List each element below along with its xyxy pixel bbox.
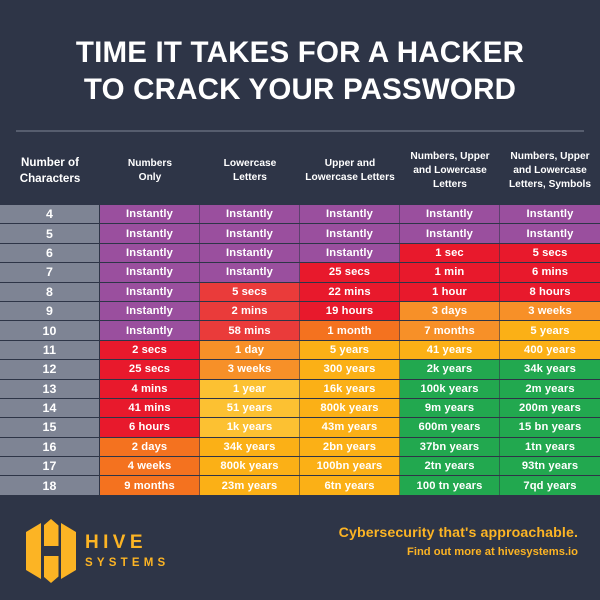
crack-time-cell: 41 years (400, 341, 500, 359)
crack-time-cell: 100bn years (300, 457, 400, 475)
crack-time-cell: Instantly (200, 224, 300, 242)
table-row: 112 secs1 day5 years41 years400 years (0, 341, 600, 360)
logo-text-systems: SYSTEMS (85, 556, 169, 571)
table-row: 134 mins1 year16k years100k years2m year… (0, 380, 600, 399)
crack-time-cell: 2m years (500, 380, 600, 398)
crack-time-cell: 2 days (100, 438, 200, 456)
crack-time-cell: 300 years (300, 360, 400, 378)
crack-time-cell: Instantly (200, 205, 300, 223)
column-header-line: Characters (20, 171, 81, 187)
character-count-cell: 7 (0, 263, 100, 281)
header-divider (16, 130, 584, 132)
crack-time-cell: 800k years (300, 399, 400, 417)
table-row: 156 hours1k years43m years600m years15 b… (0, 418, 600, 437)
crack-time-cell: Instantly (100, 244, 200, 262)
column-header-line: and Lowercase (509, 164, 591, 178)
crack-time-cell: 7qd years (500, 476, 600, 494)
character-count-cell: 8 (0, 283, 100, 301)
crack-time-cell: 3 days (400, 302, 500, 320)
crack-time-cell: Instantly (200, 263, 300, 281)
title-line-2: TO CRACK YOUR PASSWORD (0, 71, 600, 108)
crack-time-cell: 25 secs (100, 360, 200, 378)
column-header-line: Letters (224, 171, 277, 185)
crack-time-cell: 400 years (500, 341, 600, 359)
crack-time-cell: 1 hour (400, 283, 500, 301)
tagline-primary: Cybersecurity that's approachable. (339, 525, 578, 541)
character-count-cell: 18 (0, 476, 100, 494)
crack-time-cell: 16k years (300, 380, 400, 398)
crack-time-cell: 1 sec (400, 244, 500, 262)
table-row: 8Instantly5 secs22 mins1 hour8 hours (0, 283, 600, 302)
column-header-3: Upper andLowercase Letters (300, 138, 400, 204)
crack-time-cell: 2 secs (100, 341, 200, 359)
crack-time-cell: 43m years (300, 418, 400, 436)
crack-time-cell: Instantly (100, 205, 200, 223)
crack-time-cell: 1 min (400, 263, 500, 281)
crack-time-cell: 2tn years (400, 457, 500, 475)
crack-time-cell: Instantly (300, 224, 400, 242)
column-header-line: Upper and (305, 157, 394, 171)
table-row: 189 months23m years6tn years100 tn years… (0, 476, 600, 495)
crack-time-cell: 5 years (300, 341, 400, 359)
crack-time-cell: 600m years (400, 418, 500, 436)
table-row: 6InstantlyInstantlyInstantly1 sec5 secs (0, 244, 600, 263)
crack-time-cell: 9m years (400, 399, 500, 417)
table-header-row: Number ofCharactersNumbersOnlyLowercaseL… (0, 138, 600, 204)
crack-time-cell: 200m years (500, 399, 600, 417)
table-row: 162 days34k years2bn years37bn years1tn … (0, 438, 600, 457)
table-row: 7InstantlyInstantly25 secs1 min6 mins (0, 263, 600, 282)
character-count-cell: 6 (0, 244, 100, 262)
crack-time-cell: 9 months (100, 476, 200, 494)
crack-time-cell: 3 weeks (200, 360, 300, 378)
column-header-line: Lowercase Letters (305, 171, 394, 185)
crack-time-cell: Instantly (500, 205, 600, 223)
crack-time-cell: Instantly (300, 244, 400, 262)
crack-time-cell: 4 mins (100, 380, 200, 398)
crack-time-cell: Instantly (100, 283, 200, 301)
column-header-line: Letters, Symbols (509, 178, 591, 192)
hive-h-logo-icon (26, 519, 76, 583)
infographic-page: HIVE SYSTEMS TIME IT TAKES FOR A HACKER … (0, 0, 600, 600)
column-header-line: Numbers, Upper (410, 150, 489, 164)
crack-time-cell: 1tn years (500, 438, 600, 456)
column-header-line: Number of (20, 155, 81, 171)
crack-time-cell: Instantly (100, 321, 200, 339)
crack-time-cell: 34k years (500, 360, 600, 378)
character-count-cell: 5 (0, 224, 100, 242)
crack-time-cell: 2k years (400, 360, 500, 378)
character-count-cell: 9 (0, 302, 100, 320)
character-count-cell: 15 (0, 418, 100, 436)
crack-time-cell: 93tn years (500, 457, 600, 475)
character-count-cell: 12 (0, 360, 100, 378)
crack-time-cell: 41 mins (100, 399, 200, 417)
table-row: 5InstantlyInstantlyInstantlyInstantlyIns… (0, 224, 600, 243)
table-row: 1441 mins51 years800k years9m years200m … (0, 399, 600, 418)
table-row: 10Instantly58 mins1 month7 months5 years (0, 321, 600, 340)
crack-time-cell: 23m years (200, 476, 300, 494)
hive-systems-logo[interactable]: HIVE SYSTEMS (26, 519, 169, 583)
crack-time-cell: 8 hours (500, 283, 600, 301)
crack-time-cell: 2 mins (200, 302, 300, 320)
crack-time-cell: 19 hours (300, 302, 400, 320)
table-row: 1225 secs3 weeks300 years2k years34k yea… (0, 360, 600, 379)
crack-time-cell: 6 hours (100, 418, 200, 436)
column-header-line: Numbers (128, 157, 172, 171)
crack-time-cell: Instantly (400, 205, 500, 223)
column-header-line: Only (128, 171, 172, 185)
column-header-4: Numbers, Upperand LowercaseLetters (400, 138, 500, 204)
crack-time-cell: 4 weeks (100, 457, 200, 475)
crack-time-cell: 5 secs (200, 283, 300, 301)
crack-time-cell: 6 mins (500, 263, 600, 281)
crack-time-cell: 51 years (200, 399, 300, 417)
column-header-0: Number ofCharacters (0, 138, 100, 204)
column-header-1: NumbersOnly (100, 138, 200, 204)
character-count-cell: 14 (0, 399, 100, 417)
crack-time-cell: 3 weeks (500, 302, 600, 320)
title-line-1: TIME IT TAKES FOR A HACKER (0, 34, 600, 71)
column-header-2: LowercaseLetters (200, 138, 300, 204)
crack-time-cell: Instantly (500, 224, 600, 242)
column-header-line: Letters (410, 178, 489, 192)
crack-time-cell: 800k years (200, 457, 300, 475)
crack-time-cell: Instantly (400, 224, 500, 242)
crack-time-cell: 100 tn years (400, 476, 500, 494)
column-header-5: Numbers, Upperand LowercaseLetters, Symb… (500, 138, 600, 204)
character-count-cell: 10 (0, 321, 100, 339)
table-row: 174 weeks800k years100bn years2tn years9… (0, 457, 600, 476)
crack-time-cell: Instantly (100, 302, 200, 320)
tagline-url[interactable]: Find out more at hivesystems.io (339, 546, 578, 558)
footer-tagline: Cybersecurity that's approachable. Find … (339, 525, 578, 558)
character-count-cell: 17 (0, 457, 100, 475)
crack-time-cell: 5 secs (500, 244, 600, 262)
crack-time-cell: Instantly (300, 205, 400, 223)
character-count-cell: 4 (0, 205, 100, 223)
crack-time-cell: 15 bn years (500, 418, 600, 436)
crack-time-cell: 25 secs (300, 263, 400, 281)
table-row: 9Instantly2 mins19 hours3 days3 weeks (0, 302, 600, 321)
crack-time-cell: 1 year (200, 380, 300, 398)
crack-time-cell: 7 months (400, 321, 500, 339)
crack-time-cell: 100k years (400, 380, 500, 398)
crack-time-cell: 2bn years (300, 438, 400, 456)
character-count-cell: 11 (0, 341, 100, 359)
character-count-cell: 13 (0, 380, 100, 398)
crack-time-cell: 58 mins (200, 321, 300, 339)
column-header-line: and Lowercase (410, 164, 489, 178)
column-header-line: Lowercase (224, 157, 277, 171)
crack-time-cell: Instantly (100, 224, 200, 242)
crack-time-cell: 5 years (500, 321, 600, 339)
crack-time-cell: 34k years (200, 438, 300, 456)
crack-time-cell: Instantly (200, 244, 300, 262)
crack-time-cell: 1k years (200, 418, 300, 436)
crack-time-cell: 6tn years (300, 476, 400, 494)
footer: HIVE SYSTEMS Cybersecurity that's approa… (0, 505, 600, 600)
crack-time-cell: Instantly (100, 263, 200, 281)
crack-time-cell: 1 month (300, 321, 400, 339)
table-row: 4InstantlyInstantlyInstantlyInstantlyIns… (0, 205, 600, 224)
column-header-line: Numbers, Upper (509, 150, 591, 164)
crack-time-cell: 1 day (200, 341, 300, 359)
crack-time-cell: 22 mins (300, 283, 400, 301)
character-count-cell: 16 (0, 438, 100, 456)
password-crack-time-table: 4InstantlyInstantlyInstantlyInstantlyIns… (0, 205, 600, 496)
page-title: TIME IT TAKES FOR A HACKER TO CRACK YOUR… (0, 34, 600, 108)
logo-text-hive: HIVE (85, 531, 169, 556)
crack-time-cell: 37bn years (400, 438, 500, 456)
